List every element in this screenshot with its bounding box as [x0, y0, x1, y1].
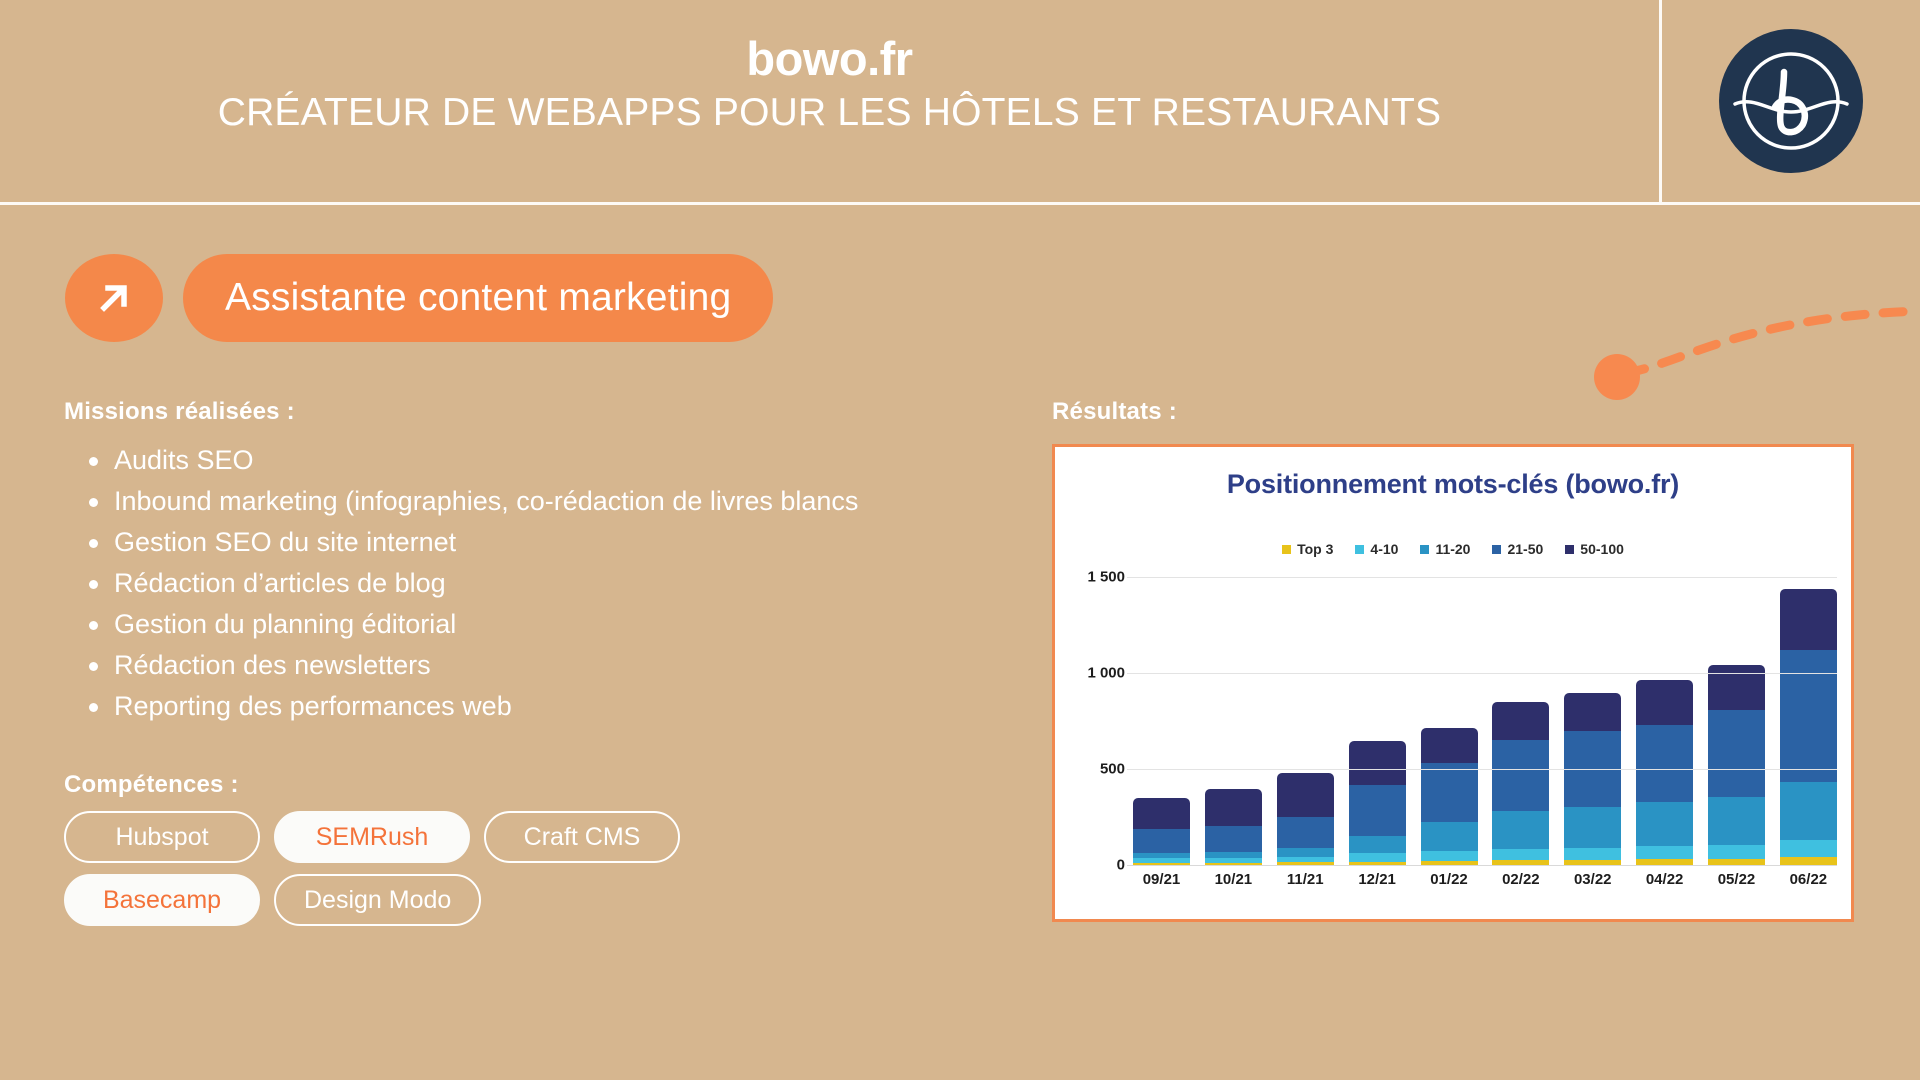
legend-item: Top 3 — [1282, 541, 1333, 557]
chart-x-tick-label: 10/21 — [1205, 871, 1262, 888]
list-item: Gestion SEO du site internet — [114, 522, 994, 563]
role-title-row: Assistante content marketing — [65, 254, 773, 342]
chart-bar-segment — [1349, 741, 1406, 786]
legend-swatch-icon — [1355, 545, 1364, 554]
skill-pill-semrush[interactable]: SEMRush — [274, 811, 470, 863]
header-horizontal-divider — [0, 202, 1920, 205]
chart-bar-segment — [1492, 811, 1549, 849]
keyword-positioning-chart: Positionnement mots-clés (bowo.fr) Top 3… — [1052, 444, 1854, 922]
legend-label: 50-100 — [1580, 541, 1624, 557]
chart-bar — [1349, 741, 1406, 865]
page-header: bowo.fr CRÉATEUR DE WEBAPPS POUR LES HÔT… — [0, 0, 1920, 205]
chart-bar-column — [1421, 577, 1478, 865]
chart-bar — [1636, 680, 1693, 865]
arrow-up-right-icon — [65, 254, 163, 342]
list-item: Gestion du planning éditorial — [114, 604, 994, 645]
chart-bar-segment — [1492, 849, 1549, 860]
chart-bar-column — [1205, 577, 1262, 865]
role-title-label: Assistante content marketing — [225, 276, 731, 320]
chart-bar-column — [1780, 577, 1837, 865]
chart-bar-segment — [1780, 589, 1837, 650]
chart-bar-segment — [1277, 848, 1334, 857]
list-item: Inbound marketing (infographies, co-réda… — [114, 481, 994, 522]
legend-item: 11-20 — [1420, 541, 1470, 557]
chart-bar-column — [1564, 577, 1621, 865]
chart-x-tick-label: 11/21 — [1277, 871, 1334, 888]
chart-gridline — [1127, 577, 1837, 578]
legend-item: 50-100 — [1565, 541, 1624, 557]
role-title-pill: Assistante content marketing — [183, 254, 773, 342]
chart-bar-column — [1349, 577, 1406, 865]
legend-label: 11-20 — [1435, 541, 1470, 557]
list-item: Audits SEO — [114, 440, 994, 481]
chart-bar-segment — [1349, 785, 1406, 836]
chart-plot-area: 05001 0001 500 — [1127, 577, 1837, 865]
skill-pill-craft-cms[interactable]: Craft CMS — [484, 811, 680, 863]
chart-bar-segment — [1421, 851, 1478, 861]
chart-bar-segment — [1133, 798, 1190, 829]
legend-label: 4-10 — [1370, 541, 1398, 557]
results-heading: Résultats : — [1052, 398, 1862, 426]
chart-y-tick-label: 1 500 — [1087, 569, 1125, 586]
chart-bar-column — [1133, 577, 1190, 865]
chart-baseline-axis — [1127, 865, 1837, 866]
chart-bar — [1421, 728, 1478, 865]
chart-bar-segment — [1349, 853, 1406, 862]
chart-bar-segment — [1492, 702, 1549, 740]
skills-row: Hubspot SEMRush Craft CMS — [64, 811, 994, 863]
chart-bar-column — [1492, 577, 1549, 865]
brand-tagline: CRÉATEUR DE WEBAPPS POUR LES HÔTELS ET R… — [0, 89, 1659, 138]
legend-swatch-icon — [1282, 545, 1291, 554]
chart-x-tick-label: 01/22 — [1421, 871, 1478, 888]
skills-pill-group: Hubspot SEMRush Craft CMS Basecamp Desig… — [64, 811, 994, 926]
chart-y-tick-label: 0 — [1117, 857, 1125, 874]
chart-bar — [1780, 589, 1837, 865]
skills-row: Basecamp Design Modo — [64, 874, 994, 926]
chart-bar-segment — [1780, 650, 1837, 782]
legend-item: 4-10 — [1355, 541, 1398, 557]
chart-bars — [1133, 577, 1837, 865]
chart-x-axis-labels: 09/2110/2111/2112/2101/2202/2203/2204/22… — [1133, 871, 1837, 888]
chart-bar-column — [1636, 577, 1693, 865]
legend-swatch-icon — [1565, 545, 1574, 554]
chart-bar-segment — [1564, 807, 1621, 848]
chart-bar-segment — [1277, 817, 1334, 848]
chart-y-tick-label: 500 — [1100, 761, 1125, 778]
list-item: Rédaction d’articles de blog — [114, 563, 994, 604]
brand-block: bowo.fr CRÉATEUR DE WEBAPPS POUR LES HÔT… — [0, 34, 1659, 138]
chart-bar-segment — [1205, 826, 1262, 852]
chart-x-tick-label: 06/22 — [1780, 871, 1837, 888]
chart-bar-segment — [1564, 848, 1621, 860]
missions-heading: Missions réalisées : — [64, 398, 994, 426]
chart-y-tick-label: 1 000 — [1087, 665, 1125, 682]
chart-bar — [1708, 665, 1765, 865]
chart-bar-segment — [1421, 763, 1478, 822]
chart-x-tick-label: 04/22 — [1636, 871, 1693, 888]
chart-bar-segment — [1205, 789, 1262, 826]
chart-bar-segment — [1349, 836, 1406, 853]
chart-bar-segment — [1780, 840, 1837, 857]
bowo-logo-icon — [1718, 28, 1864, 174]
chart-bar-segment — [1780, 857, 1837, 865]
chart-bar-segment — [1708, 845, 1765, 859]
skill-pill-design-modo[interactable]: Design Modo — [274, 874, 481, 926]
brand-name: bowo.fr — [0, 34, 1659, 83]
chart-bar-segment — [1421, 822, 1478, 850]
legend-item: 21-50 — [1492, 541, 1543, 557]
decorative-dashed-arc — [1590, 225, 1920, 415]
chart-bar — [1492, 702, 1549, 865]
chart-bar — [1564, 693, 1621, 865]
chart-gridline — [1127, 673, 1837, 674]
chart-bar-segment — [1492, 740, 1549, 811]
chart-x-tick-label: 09/21 — [1133, 871, 1190, 888]
chart-bar-segment — [1636, 846, 1693, 859]
chart-title: Positionnement mots-clés (bowo.fr) — [1055, 469, 1851, 500]
chart-bar — [1133, 798, 1190, 865]
list-item: Reporting des performances web — [114, 686, 994, 727]
chart-bar — [1205, 789, 1262, 865]
chart-bar-segment — [1133, 829, 1190, 853]
legend-swatch-icon — [1420, 545, 1429, 554]
chart-x-tick-label: 05/22 — [1708, 871, 1765, 888]
legend-swatch-icon — [1492, 545, 1501, 554]
chart-bar-segment — [1277, 773, 1334, 817]
list-item: Rédaction des newsletters — [114, 645, 994, 686]
chart-legend: Top 34-1011-2021-5050-100 — [1055, 541, 1851, 557]
chart-bar-segment — [1636, 725, 1693, 803]
chart-bar — [1277, 773, 1334, 865]
chart-bar-column — [1708, 577, 1765, 865]
skills-heading: Compétences : — [64, 771, 994, 799]
skill-pill-hubspot[interactable]: Hubspot — [64, 811, 260, 863]
chart-bar-segment — [1636, 802, 1693, 845]
legend-label: Top 3 — [1297, 541, 1333, 557]
chart-bar-segment — [1780, 782, 1837, 840]
right-column: Résultats : Positionnement mots-clés (bo… — [1052, 398, 1862, 922]
chart-bar-column — [1277, 577, 1334, 865]
chart-bar-segment — [1564, 693, 1621, 731]
left-column: Missions réalisées : Audits SEO Inbound … — [64, 398, 994, 926]
chart-x-tick-label: 02/22 — [1492, 871, 1549, 888]
header-vertical-divider — [1659, 0, 1662, 202]
chart-bar-segment — [1708, 797, 1765, 845]
skill-pill-basecamp[interactable]: Basecamp — [64, 874, 260, 926]
legend-label: 21-50 — [1507, 541, 1543, 557]
chart-x-tick-label: 03/22 — [1564, 871, 1621, 888]
chart-bar-segment — [1421, 728, 1478, 763]
chart-x-tick-label: 12/21 — [1349, 871, 1406, 888]
chart-bar-segment — [1708, 710, 1765, 797]
chart-gridline — [1127, 769, 1837, 770]
chart-bar-segment — [1636, 680, 1693, 725]
missions-list: Audits SEO Inbound marketing (infographi… — [64, 440, 994, 727]
